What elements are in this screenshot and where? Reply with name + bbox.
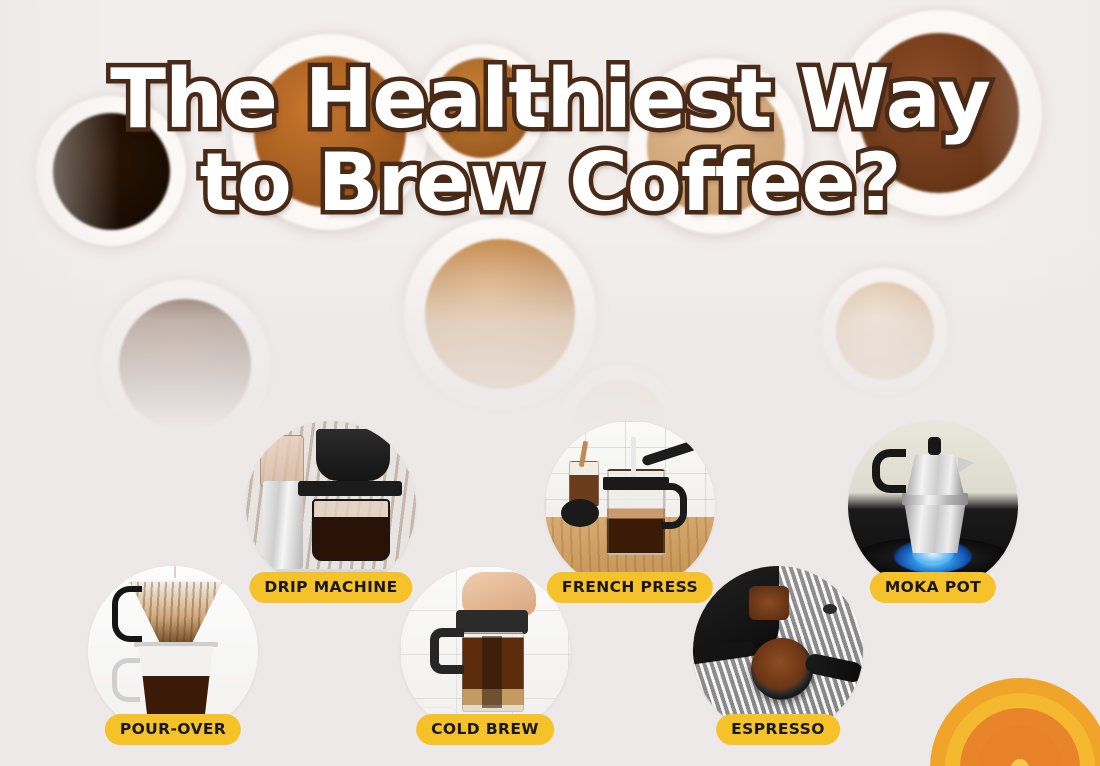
press-band	[603, 477, 669, 490]
moka-pot-top	[906, 451, 964, 495]
drip-machine-scene	[246, 421, 416, 591]
coffee-cup	[232, 34, 428, 230]
method-card-moka-pot[interactable]: MOKA POT	[848, 421, 1018, 591]
cup-liquid	[254, 56, 407, 209]
paper-filter-cone	[130, 582, 222, 646]
steel-panel	[263, 481, 303, 569]
french-press-photo	[545, 421, 715, 591]
moka-pot-spout	[958, 457, 974, 473]
moka-pot-base	[904, 501, 966, 553]
portafilter-basket	[751, 638, 813, 700]
press-handle	[661, 483, 687, 529]
method-label-badge: FRENCH PRESS	[547, 572, 713, 603]
method-card-espresso[interactable]: ESPRESSO	[693, 566, 863, 736]
glass-carafe	[134, 646, 218, 718]
coffee-cup	[418, 44, 546, 172]
glass-carafe	[312, 499, 390, 561]
coffee-cup	[628, 58, 804, 234]
tray-drain-hole	[823, 604, 837, 614]
photo-bottom-fade	[0, 230, 1100, 430]
moka-pot-knob	[928, 437, 941, 455]
cold-brew-scene	[400, 566, 570, 736]
pour-over-scene	[88, 566, 258, 736]
moka-pot-scene	[848, 421, 1018, 591]
pour-over-dripper-photo	[88, 566, 258, 736]
method-card-pour-over[interactable]: POUR-OVER	[88, 566, 258, 736]
method-label-badge: COLD BREW	[416, 714, 554, 745]
method-card-cold-brew[interactable]: COLD BREW	[400, 566, 570, 736]
moka-pot-on-stove-photo	[848, 421, 1018, 591]
infographic-page: The Healthiest Way to Brew Coffee? DRIP …	[0, 0, 1100, 766]
method-label-badge: DRIP MACHINE	[249, 572, 412, 603]
water-tank	[260, 435, 304, 487]
carafe-handle	[112, 658, 140, 702]
press-lid	[561, 499, 599, 527]
cold-brew-pitcher-photo	[400, 566, 570, 736]
method-label-badge: MOKA POT	[870, 572, 996, 603]
cup-liquid	[647, 77, 784, 214]
espresso-portafilter-photo	[693, 566, 863, 736]
method-label-badge: ESPRESSO	[716, 714, 840, 745]
hero-background-image	[0, 0, 1100, 430]
method-card-drip-machine[interactable]: DRIP MACHINE	[246, 421, 416, 591]
pitcher-handle	[430, 628, 464, 674]
method-card-french-press[interactable]: FRENCH PRESS	[545, 421, 715, 591]
cup-liquid	[432, 58, 532, 158]
french-press-scene	[545, 421, 715, 591]
method-label-badge: POUR-OVER	[105, 714, 241, 745]
plunger-rod	[631, 437, 636, 477]
coffee-grounds	[749, 586, 789, 620]
espresso-scene	[693, 566, 863, 736]
brew-arm	[298, 481, 402, 496]
moka-pot-handle	[872, 449, 906, 493]
brew-filter-core	[482, 636, 502, 708]
dripper-handle	[112, 586, 142, 642]
pitcher-lid	[456, 610, 528, 634]
filter-basket	[316, 429, 390, 481]
drip-coffee-machine-photo	[246, 421, 416, 591]
sunburst-semicircle-graphic	[930, 674, 1100, 766]
